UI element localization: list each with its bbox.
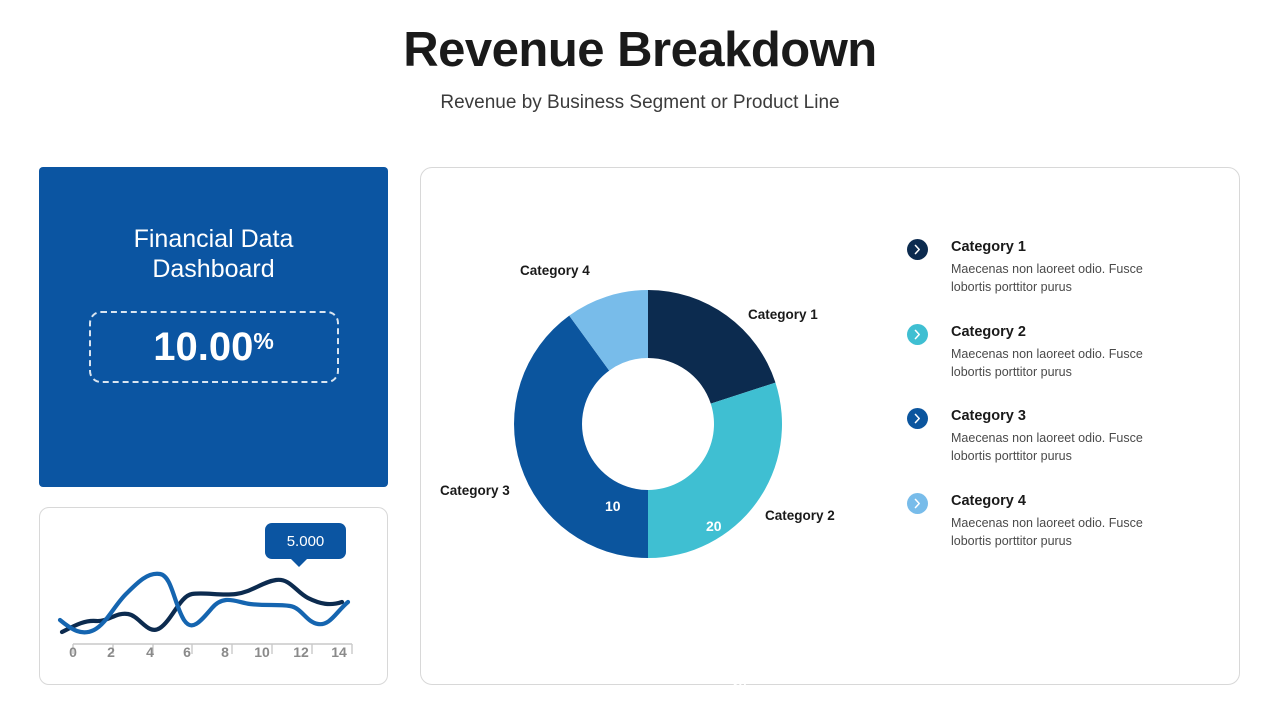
- donut-label-category-2: Category 2: [765, 508, 835, 523]
- chevron-right-icon: [907, 239, 928, 260]
- donut-value-category-4: 10: [605, 498, 621, 514]
- page-subtitle: Revenue by Business Segment or Product L…: [0, 92, 1280, 114]
- sparkline-tooltip[interactable]: 5.000: [265, 523, 346, 559]
- axis-tick-8: 8: [213, 644, 237, 660]
- legend-title: Category 1: [951, 238, 1207, 256]
- chevron-right-icon: [907, 493, 928, 514]
- axis-tick-0: 0: [61, 644, 85, 660]
- kpi-value-unit: %: [253, 330, 273, 353]
- donut-value-category-1: 20: [706, 518, 722, 534]
- kpi-title-line1: Financial Data: [134, 225, 294, 253]
- page-title: Revenue Breakdown: [0, 22, 1280, 78]
- donut-chart-svg: [425, 193, 875, 593]
- donut-label-category-3: Category 3: [440, 483, 510, 498]
- kpi-value: 10.00 %: [153, 327, 274, 367]
- legend-title: Category 2: [951, 323, 1207, 341]
- sparkline-series-blue: [60, 574, 348, 633]
- kpi-value-number: 10.00: [153, 327, 253, 367]
- legend-description: Maecenas non laoreet odio. Fusce loborti…: [951, 430, 1166, 466]
- donut-label-category-1: Category 1: [748, 307, 818, 322]
- donut-label-category-4: Category 4: [520, 263, 590, 278]
- legend-item-category-3[interactable]: Category 3 Maecenas non laoreet odio. Fu…: [907, 407, 1207, 466]
- slide-root: Revenue Breakdown Revenue by Business Se…: [0, 0, 1280, 720]
- chevron-right-icon: [907, 324, 928, 345]
- axis-tick-6: 6: [175, 644, 199, 660]
- sparkline-tooltip-value: 5.000: [287, 533, 325, 550]
- axis-tick-4: 4: [138, 644, 162, 660]
- axis-tick-12: 12: [289, 644, 313, 660]
- donut-value-category-2: 30: [731, 677, 747, 693]
- category-legend: Category 1 Maecenas non laoreet odio. Fu…: [907, 238, 1207, 577]
- axis-tick-10: 10: [250, 644, 274, 660]
- legend-item-category-4[interactable]: Category 4 Maecenas non laoreet odio. Fu…: [907, 492, 1207, 551]
- legend-title: Category 4: [951, 492, 1207, 510]
- legend-item-category-1[interactable]: Category 1 Maecenas non laoreet odio. Fu…: [907, 238, 1207, 297]
- kpi-title-line2: Dashboard: [152, 255, 274, 283]
- kpi-value-badge: 10.00 %: [89, 311, 339, 383]
- donut-value-category-3: 40: [529, 645, 545, 661]
- legend-description: Maecenas non laoreet odio. Fusce loborti…: [951, 515, 1166, 551]
- axis-tick-2: 2: [99, 644, 123, 660]
- axis-tick-14: 14: [327, 644, 351, 660]
- revenue-breakdown-panel: 20 30 40 10 Category 1 Category 2 Catego…: [420, 167, 1240, 685]
- donut-chart: 20 30 40 10: [425, 193, 875, 593]
- legend-item-category-2[interactable]: Category 2 Maecenas non laoreet odio. Fu…: [907, 323, 1207, 382]
- legend-description: Maecenas non laoreet odio. Fusce loborti…: [951, 261, 1166, 297]
- legend-title: Category 3: [951, 407, 1207, 425]
- kpi-card-title: Financial Data Dashboard: [39, 225, 388, 284]
- legend-description: Maecenas non laoreet odio. Fusce loborti…: [951, 346, 1166, 382]
- tooltip-tail-icon: [290, 558, 308, 567]
- financial-data-dashboard-card: Financial Data Dashboard 10.00 %: [39, 167, 388, 487]
- chevron-right-icon: [907, 408, 928, 429]
